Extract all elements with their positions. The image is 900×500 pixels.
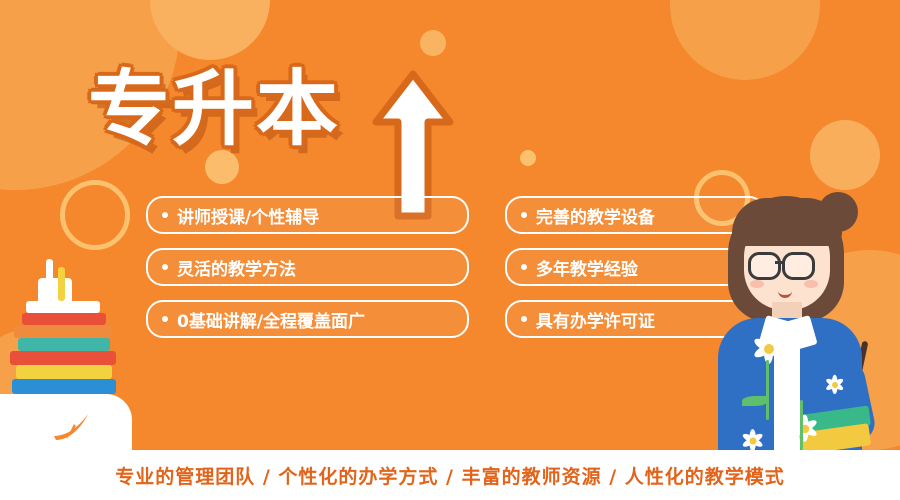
bg-circle — [420, 30, 446, 56]
feature-row: 灵活的教学方法 多年教学经验 — [146, 248, 766, 286]
book-item — [22, 313, 106, 325]
book-stack-icon — [8, 264, 120, 394]
feature-row: 讲师授课/个性辅导 完善的教学设备 — [146, 196, 766, 234]
teacher-illustration — [700, 190, 890, 450]
feature-pill-label: 0基础讲解/全程覆盖面广 — [177, 307, 365, 332]
glasses-bridge — [775, 261, 785, 264]
feature-pill-label: 灵活的教学方法 — [177, 255, 296, 280]
bg-circle-outline — [60, 180, 130, 250]
book-item — [10, 351, 116, 365]
pen-icon — [46, 259, 53, 301]
flower-icon — [791, 415, 820, 444]
bullet-dot-icon — [521, 212, 527, 218]
feature-pill-label: 具有办学许可证 — [536, 307, 655, 332]
feature-row: 0基础讲解/全程覆盖面广 具有办学许可证 — [146, 300, 766, 338]
headline-text: 专升本 — [88, 52, 408, 168]
stem-shape — [766, 360, 769, 420]
feature-list: 讲师授课/个性辅导 完善的教学设备 灵活的教学方法 多年教学经验 0基础讲解/全… — [146, 196, 766, 352]
bg-circle — [670, 0, 820, 80]
bg-circle — [810, 120, 880, 190]
book-item — [12, 379, 116, 394]
book-item — [14, 325, 112, 338]
feature-pill-label: 完善的教学设备 — [536, 203, 655, 228]
glasses-icon — [782, 252, 815, 280]
book-item — [16, 365, 112, 379]
footer-text: 专业的管理团队 / 个性化的办学方式 / 丰富的教师资源 / 人性化的教学模式 — [115, 462, 785, 489]
bg-circle — [150, 0, 270, 60]
bg-circle — [520, 150, 536, 166]
hair-bun-shape — [818, 192, 858, 232]
bullet-dot-icon — [162, 316, 168, 322]
stem-shape — [800, 400, 803, 450]
book-item — [26, 301, 100, 313]
flower-icon — [825, 375, 845, 395]
feature-pill-label: 讲师授课/个性辅导 — [177, 203, 319, 228]
flower-icon — [752, 332, 786, 366]
book-item — [18, 338, 110, 351]
bullet-dot-icon — [521, 264, 527, 270]
feature-pill[interactable]: 0基础讲解/全程覆盖面广 — [146, 300, 469, 338]
pencil-icon — [58, 267, 65, 301]
headline: 专升本 — [88, 52, 408, 172]
bullet-dot-icon — [162, 212, 168, 218]
feature-pill[interactable]: 灵活的教学方法 — [146, 248, 469, 286]
glasses-icon — [748, 252, 781, 280]
feature-pill[interactable]: 讲师授课/个性辅导 — [146, 196, 469, 234]
poster: 专升本 讲师授课/个性辅导 完善的教学设备 灵活的教学方法 多年教学经验 — [0, 0, 900, 500]
cheek-shape — [750, 280, 764, 288]
feature-pill-label: 多年教学经验 — [536, 255, 638, 280]
footer-bar: 专业的管理团队 / 个性化的办学方式 / 丰富的教师资源 / 人性化的教学模式 — [0, 450, 900, 500]
bullet-dot-icon — [162, 264, 168, 270]
swoosh-mark-icon — [52, 410, 92, 442]
bullet-dot-icon — [521, 316, 527, 322]
leaf-icon — [742, 396, 768, 406]
cheek-shape — [804, 280, 818, 288]
